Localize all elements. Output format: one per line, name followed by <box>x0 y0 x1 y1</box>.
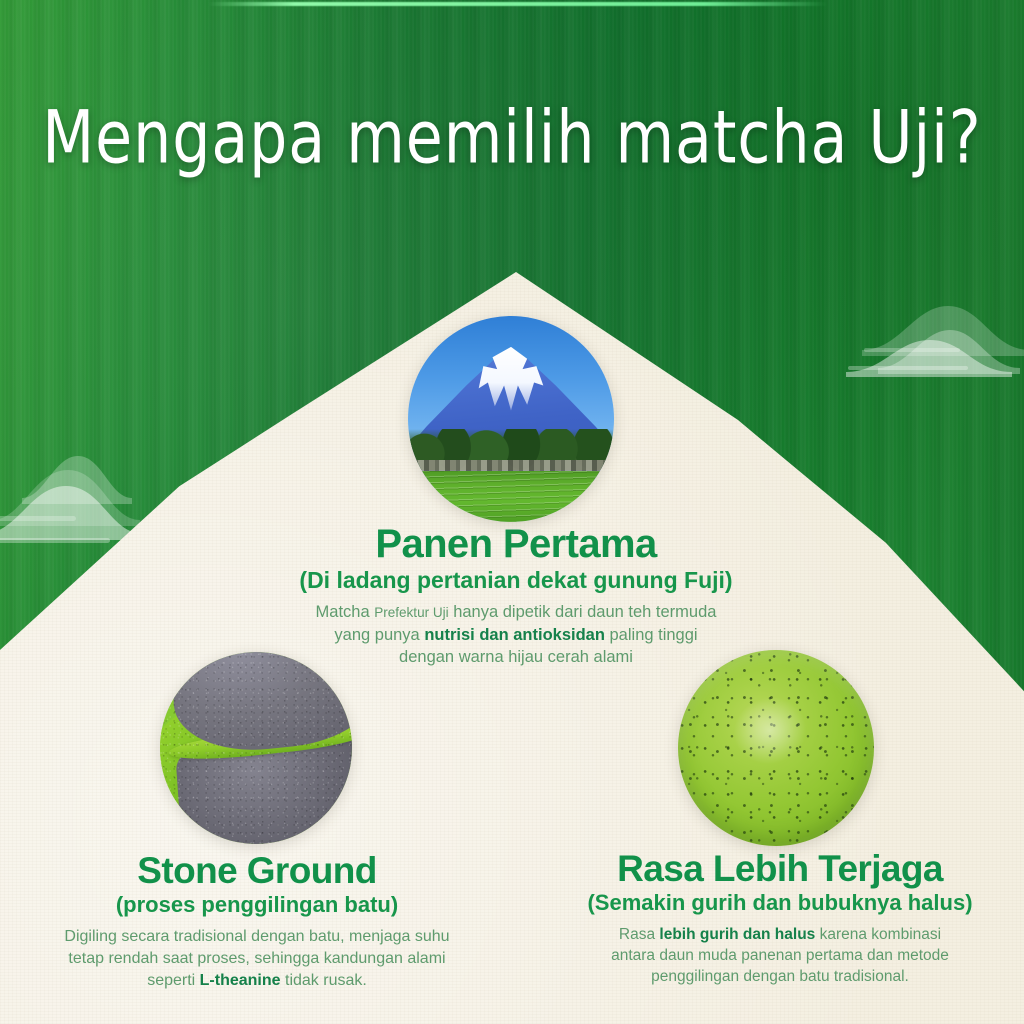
stone-body-line3-b: tidak rusak. <box>281 972 367 989</box>
stone-body-line3-bold: L-theanine <box>200 972 281 989</box>
rasa-body: Rasa lebih gurih dan halus karena kombin… <box>540 924 1020 988</box>
panen-body-line2-a: yang punya <box>334 626 424 644</box>
rasa-body-line1-bold: lebih gurih dan halus <box>659 926 815 943</box>
rasa-body-line1-b: karena kombinasi <box>815 926 941 943</box>
page-title: Mengapa memilih matcha Uji? <box>15 94 1008 180</box>
panen-body-line2-b: paling tinggi <box>605 626 698 644</box>
panen-subheading: (Di ladang pertanian dekat gunung Fuji) <box>282 568 750 594</box>
panen-body-line3: dengan warna hijau cerah alami <box>399 648 633 666</box>
stone-body-line3-a: seperti <box>147 972 199 989</box>
stone-body-line1: Digiling secara tradisional dengan batu,… <box>64 928 449 945</box>
rasa-body-line3: penggilingan dengan batu tradisional. <box>651 968 909 985</box>
panen-body: Matcha Prefektur Uji hanya dipetik dari … <box>282 601 750 669</box>
stone-granite-grain <box>160 652 352 844</box>
rasa-subheading: (Semakin gurih dan bubuknya halus) <box>540 891 1020 916</box>
panen-body-line1-small: Prefektur Uji <box>374 605 448 620</box>
fuji-tea-field <box>408 471 614 523</box>
stone-heading: Stone Ground <box>22 852 492 890</box>
panen-body-line1-b: hanya dipetik dari daun teh termuda <box>449 603 717 621</box>
mount-fuji-tea-field-photo <box>408 316 614 522</box>
panen-body-line2-bold: nutrisi dan antioksidan <box>424 626 605 644</box>
rasa-body-line1-a: Rasa <box>619 926 660 943</box>
feature-block-rasa-lebih-terjaga: Rasa Lebih Terjaga (Semakin gurih dan bu… <box>540 850 1020 988</box>
stone-body: Digiling secara tradisional dengan batu,… <box>22 926 492 992</box>
rasa-heading: Rasa Lebih Terjaga <box>540 850 1020 888</box>
stone-mill-grinding-photo <box>160 652 352 844</box>
matcha-powder-rim-shadow <box>678 650 874 846</box>
panen-body-line1-a: Matcha <box>316 603 375 621</box>
poster-canvas: Mengapa memilih matcha Uji? <box>0 0 1024 1024</box>
panen-heading: Panen Pertama <box>282 524 750 565</box>
matcha-powder-photo <box>678 650 874 846</box>
feature-block-panen-pertama: Panen Pertama (Di ladang pertanian dekat… <box>282 524 750 669</box>
stone-body-line2: tetap rendah saat proses, sehingga kandu… <box>68 950 445 967</box>
rasa-body-line2: antara daun muda panenan pertama dan met… <box>611 947 949 964</box>
feature-block-stone-ground: Stone Ground (proses penggilingan batu) … <box>22 852 492 992</box>
stone-subheading: (proses penggilingan batu) <box>22 893 492 918</box>
